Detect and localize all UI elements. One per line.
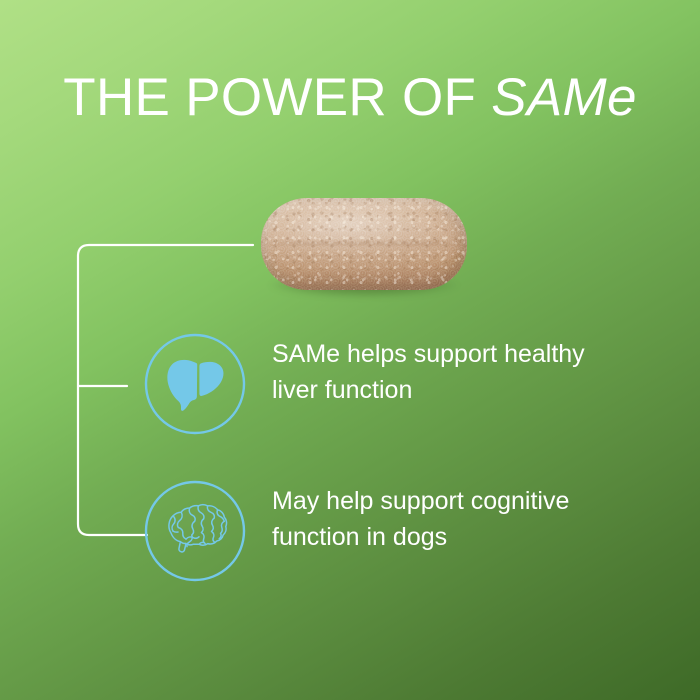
liver-icon-glyph xyxy=(167,360,223,411)
feature-liver-text: SAMe helps support healthy liver functio… xyxy=(272,336,632,408)
feature-brain-text: May help support cognitive function in d… xyxy=(272,483,632,555)
title-prefix: THE POWER OF xyxy=(63,68,491,127)
feature-liver: SAMe helps support healthy liver functio… xyxy=(141,330,661,438)
feature-liver-line1: SAMe helps support healthy xyxy=(272,336,632,372)
title-emphasis: SAMe xyxy=(491,68,637,127)
feature-brain-line2: function in dogs xyxy=(272,519,632,555)
infographic-canvas: THE POWER OF SAMe xyxy=(0,0,700,700)
liver-icon xyxy=(141,330,249,438)
feature-liver-line2: liver function xyxy=(272,372,632,408)
tablet-caplet xyxy=(261,198,467,290)
product-image xyxy=(261,198,467,298)
feature-brain: May help support cognitive function in d… xyxy=(141,477,661,585)
feature-brain-line1: May help support cognitive xyxy=(272,483,632,519)
brain-icon xyxy=(141,477,249,585)
page-title: THE POWER OF SAMe xyxy=(0,68,700,128)
brain-icon-glyph xyxy=(169,505,227,552)
tablet-midband xyxy=(261,242,467,245)
